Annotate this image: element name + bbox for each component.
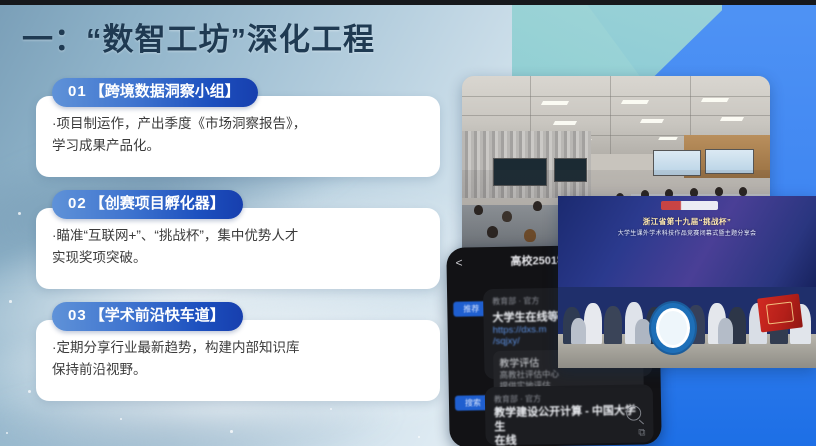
search-result-2[interactable]: 教育部 · 官方 教学建设公开计算 - 中国大学生 在线 提供 公告栏目 [dq… [485,384,654,445]
top-black-bar [0,0,816,5]
result-heading: 教学建设公开计算 - 中国大学生 在线 [494,404,645,446]
card-title: 【创赛项目孵化器】 [90,195,225,212]
card-body-03: ·定期分享行业最新趋势，构建内部知识库 保持前沿视野。 [36,320,440,401]
back-icon[interactable]: < [455,256,462,270]
slide-root: 一：“数智工坊”深化工程 01【跨境数据洞察小组】 ·项目制运作，产出季度《市场… [0,0,816,446]
card-text: ·瞄准“互联网+”、“挑战杯”，集中优势人才 实现奖项突破。 [52,225,424,269]
list-item: 02【创赛项目孵化器】 ·瞄准“互联网+”、“挑战杯”，集中优势人才 实现奖项突… [36,190,440,289]
list-item: 01【跨境数据洞察小组】 ·项目制运作，产出季度《市场洞察报告》， 学习成果产品… [36,78,440,177]
card-number: 01 [68,83,87,100]
copy-icon[interactable]: ⧉ [638,427,645,438]
sparkle [28,390,31,393]
card-list: 01【跨境数据洞察小组】 ·项目制运作，产出季度《市场洞察报告》， 学习成果产品… [36,78,440,414]
sparkle [18,212,21,215]
sparkle [120,418,122,420]
sparkle [230,430,233,433]
list-item: 03【学术前沿快车道】 ·定期分享行业最新趋势，构建内部知识库 保持前沿视野。 [36,302,440,401]
card-badge-03[interactable]: 03【学术前沿快车道】 [52,302,243,331]
card-number: 02 [68,195,87,212]
card-text: ·项目制运作，产出季度《市场洞察报告》， 学习成果产品化。 [52,113,424,157]
page-title: 一：“数智工坊”深化工程 [22,14,375,59]
sparkle [6,432,8,434]
card-body-01: ·项目制运作，产出季度《市场洞察报告》， 学习成果产品化。 [36,96,440,177]
trophy-ring [651,303,695,353]
card-badge-01[interactable]: 01【跨境数据洞察小组】 [52,78,258,107]
red-banner-flag [757,293,803,332]
banner-line-1: 浙江省第十九届“挑战杯” [558,216,816,227]
sparkle [9,300,12,303]
banner-logo [661,201,718,209]
banner-line-2: 大学生课外学术科技作品竞赛闭幕式暨主题分享会 [558,228,816,237]
card-text: ·定期分享行业最新趋势，构建内部知识库 保持前沿视野。 [52,337,424,381]
result-meta: 教育部 · 官方 [494,391,644,405]
group-photo: 浙江省第十九届“挑战杯” 大学生课外学术科技作品竞赛闭幕式暨主题分享会 [558,196,816,368]
card-title: 【跨境数据洞察小组】 [90,83,240,100]
search-icon[interactable] [626,405,641,420]
card-body-02: ·瞄准“互联网+”、“挑战杯”，集中优势人才 实现奖项突破。 [36,208,440,289]
card-number: 03 [68,307,87,324]
banner-backdrop: 浙江省第十九届“挑战杯” 大学生课外学术科技作品竞赛闭幕式暨主题分享会 [558,196,816,287]
card-badge-02[interactable]: 02【创赛项目孵化器】 [52,190,243,219]
sparkle [418,436,420,438]
card-title: 【学术前沿快车道】 [90,307,225,324]
